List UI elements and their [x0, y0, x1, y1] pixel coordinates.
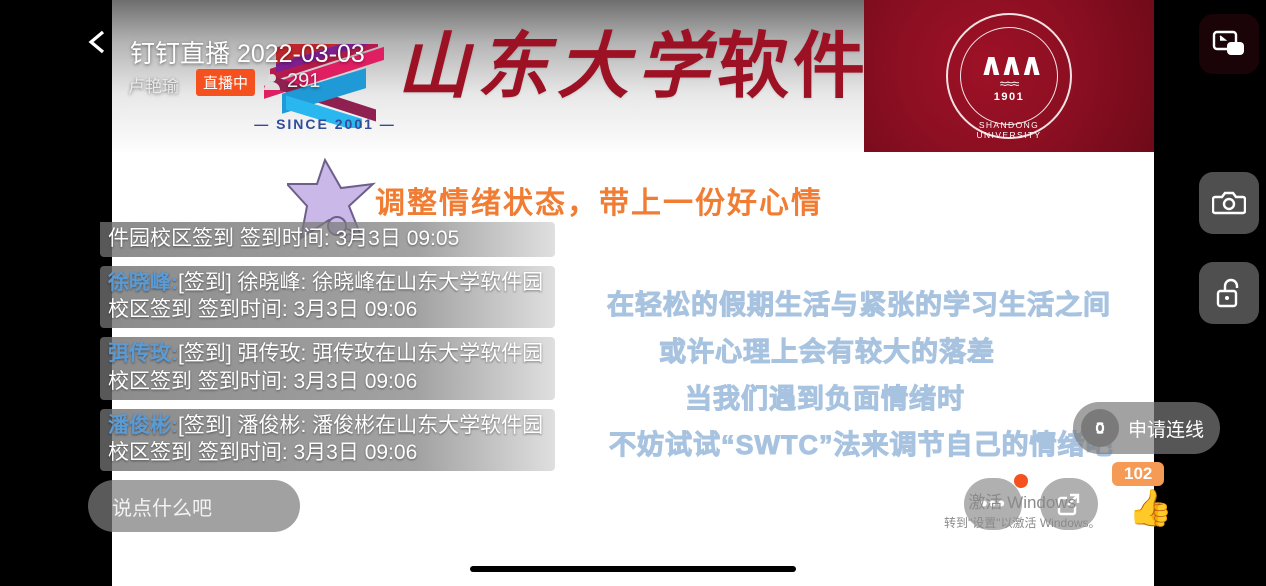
- banner-title-cursive: 山东大学: [397, 23, 717, 108]
- chat-message-author: 徐晓峰:: [108, 271, 178, 294]
- slide-line-3: 当我们遇到负面情绪时: [685, 377, 965, 416]
- camera-icon: [1212, 189, 1246, 217]
- presenter-name: 卢艳瑜: [128, 72, 179, 97]
- chat-message: 件园校区签到 签到时间: 3月3日 09:05: [100, 222, 555, 257]
- chat-input-placeholder: 说点什么吧: [112, 492, 212, 521]
- crest-wave-icon: ≈≈≈: [1000, 78, 1018, 90]
- chat-message: 潘俊彬:[签到] 潘俊彬: 潘俊彬在山东大学软件园校区签到 签到时间: 3月3日…: [100, 409, 555, 471]
- slide-heading: 调整情绪状态，带上一份好心情: [375, 178, 823, 222]
- crest-university-name: SHANDONG UNIVERSITY: [948, 120, 1070, 140]
- since-label: — SINCE 2001 —: [240, 116, 410, 132]
- crest-year: 1901: [994, 91, 1024, 103]
- request-connect-button[interactable]: 申请连线: [1073, 402, 1220, 454]
- screen-lock-button[interactable]: [1199, 262, 1259, 324]
- camera-switch-button[interactable]: [1199, 172, 1259, 234]
- slide-line-2: 或许心理上会有较大的落差: [659, 330, 995, 369]
- room-title: 钉钉直播 2022-03-03: [130, 34, 365, 70]
- chat-message: 徐晓峰:[签到] 徐晓峰: 徐晓峰在山东大学软件园校区签到 签到时间: 3月3日…: [100, 266, 555, 328]
- viewer-count: 291: [287, 70, 320, 93]
- more-options-button[interactable]: •••: [964, 478, 1022, 530]
- crest-mountain-icon: ∧∧∧: [979, 53, 1040, 78]
- chat-message-author: 弭传玫:: [108, 342, 178, 365]
- stream-header: 钉钉直播 2022-03-03 卢艳瑜 直播中 291: [0, 10, 420, 90]
- live-status-badge: 直播中: [196, 69, 255, 96]
- like-count-badge: 102: [1112, 462, 1164, 486]
- share-external-icon: [1056, 491, 1082, 517]
- unlock-icon: [1214, 277, 1244, 309]
- share-button[interactable]: [1040, 478, 1098, 530]
- slide-line-4: 不妨试试“SWTC”法来调节自己的情绪吧: [609, 423, 1113, 462]
- chat-message: 弭传玫:[签到] 弭传玫: 弭传玫在山东大学软件园校区签到 签到时间: 3月3日…: [100, 337, 555, 399]
- picture-in-picture-button[interactable]: [1199, 14, 1259, 74]
- notification-dot: [1014, 474, 1028, 488]
- link-icon: [1081, 409, 1119, 447]
- chat-input[interactable]: 说点什么吧: [88, 480, 300, 532]
- viewer-count-group: 291: [264, 70, 320, 93]
- university-crest: ∧∧∧ ≈≈≈ 1901 SHANDONG UNIVERSITY: [864, 0, 1154, 152]
- live-stream-player: — SINCE 2001 — 山东大学软件学院 ∧∧∧ ≈≈≈ 1901 SHA…: [0, 0, 1266, 586]
- thumbs-up-icon[interactable]: 👍: [1128, 490, 1173, 526]
- more-dots-icon: •••: [980, 491, 1006, 517]
- person-icon: [264, 74, 280, 90]
- back-button[interactable]: [84, 28, 112, 56]
- home-indicator: [470, 566, 796, 572]
- chat-message-list[interactable]: 件园校区签到 签到时间: 3月3日 09:05 徐晓峰:[签到] 徐晓峰: 徐晓…: [100, 222, 555, 480]
- picture-in-picture-icon: [1212, 30, 1246, 58]
- request-connect-label: 申请连线: [1128, 415, 1204, 442]
- chat-message-text: 件园校区签到 签到时间: 3月3日 09:05: [108, 227, 459, 250]
- chat-message-author: 潘俊彬:: [108, 414, 178, 437]
- slide-line-1: 在轻松的假期生活与紧张的学习生活之间: [607, 283, 1111, 322]
